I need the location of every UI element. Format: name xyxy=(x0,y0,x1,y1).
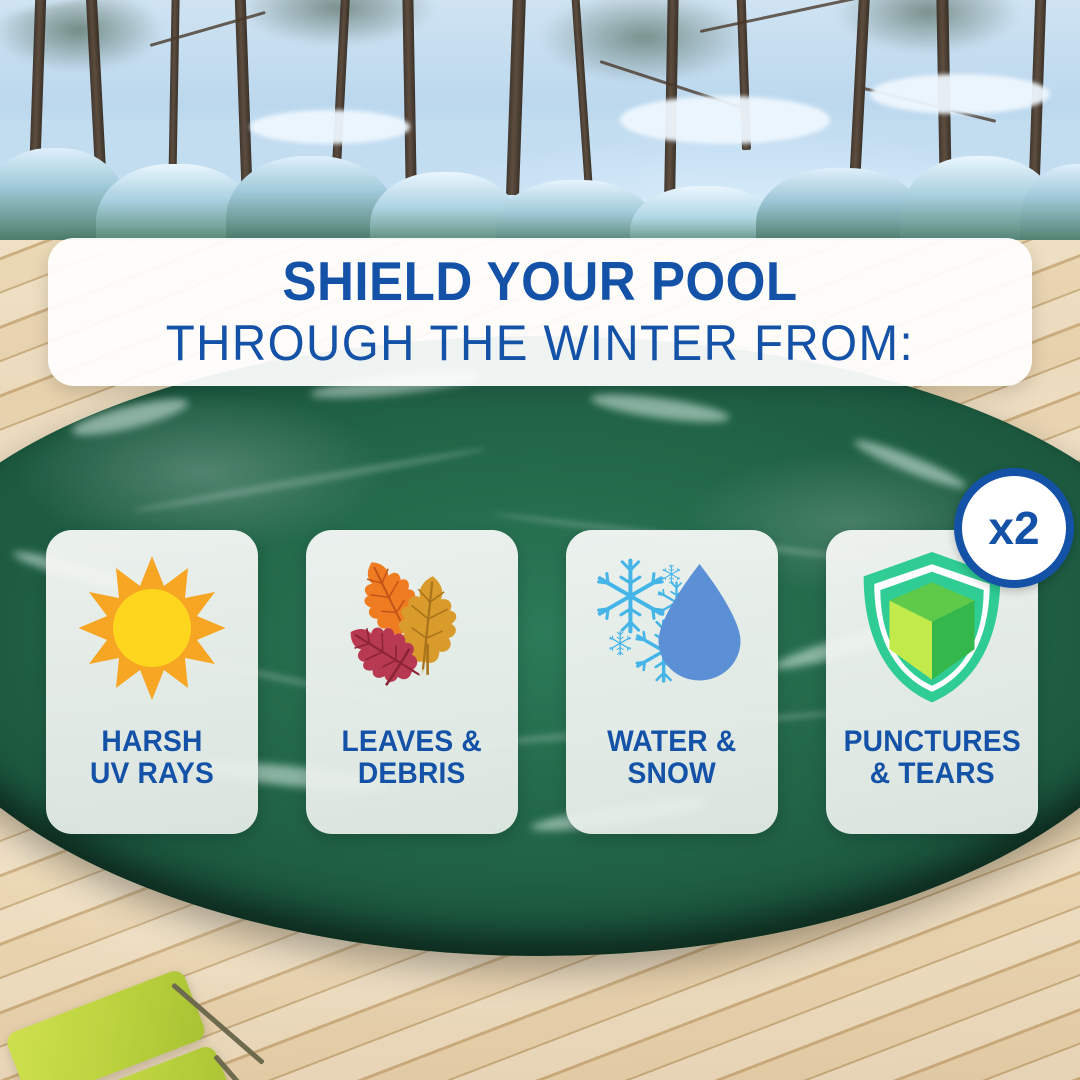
snow-patch xyxy=(620,96,830,144)
label-line-1: WATER & xyxy=(607,725,736,758)
water-drop-snowflake-icon xyxy=(566,530,778,726)
feature-card-label: HARSH UV RAYS xyxy=(90,726,214,790)
headline-banner: SHIELD YOUR POOL THROUGH THE WINTER FROM… xyxy=(48,238,1032,386)
headline-line-1: SHIELD YOUR POOL xyxy=(282,254,797,309)
label-line-2: DEBRIS xyxy=(358,757,466,790)
feature-card-punctures-tears[interactable]: x2 PUNCTURES & TEARS xyxy=(826,530,1038,834)
feature-card-water-snow[interactable]: WATER & SNOW xyxy=(566,530,778,834)
feature-card-list: HARSH UV RAYS xyxy=(46,530,1038,834)
label-line-2: SNOW xyxy=(628,757,716,790)
feature-card-label: LEAVES & DEBRIS xyxy=(342,726,482,790)
feature-card-leaves-debris[interactable]: LEAVES & DEBRIS xyxy=(306,530,518,834)
product-infographic: SHIELD YOUR POOL THROUGH THE WINTER FROM… xyxy=(0,0,1080,1080)
snow-patch xyxy=(250,110,410,144)
snowy-forest-background xyxy=(0,0,1080,260)
snow-patch xyxy=(870,74,1050,114)
label-line-2: & TEARS xyxy=(869,757,994,790)
sun-icon xyxy=(46,530,258,726)
quantity-badge-x2: x2 xyxy=(954,468,1074,588)
label-line-1: LEAVES & xyxy=(342,725,482,758)
feature-card-label: WATER & SNOW xyxy=(607,726,736,790)
label-line-1: HARSH xyxy=(101,725,202,758)
label-line-2: UV RAYS xyxy=(90,757,214,790)
label-line-1: PUNCTURES xyxy=(843,725,1020,758)
feature-card-harsh-uv-rays[interactable]: HARSH UV RAYS xyxy=(46,530,258,834)
badge-label: x2 xyxy=(988,505,1039,551)
feature-card-label: PUNCTURES & TEARS xyxy=(843,726,1020,790)
leaves-icon xyxy=(306,530,518,726)
headline-line-2: THROUGH THE WINTER FROM: xyxy=(166,315,914,371)
